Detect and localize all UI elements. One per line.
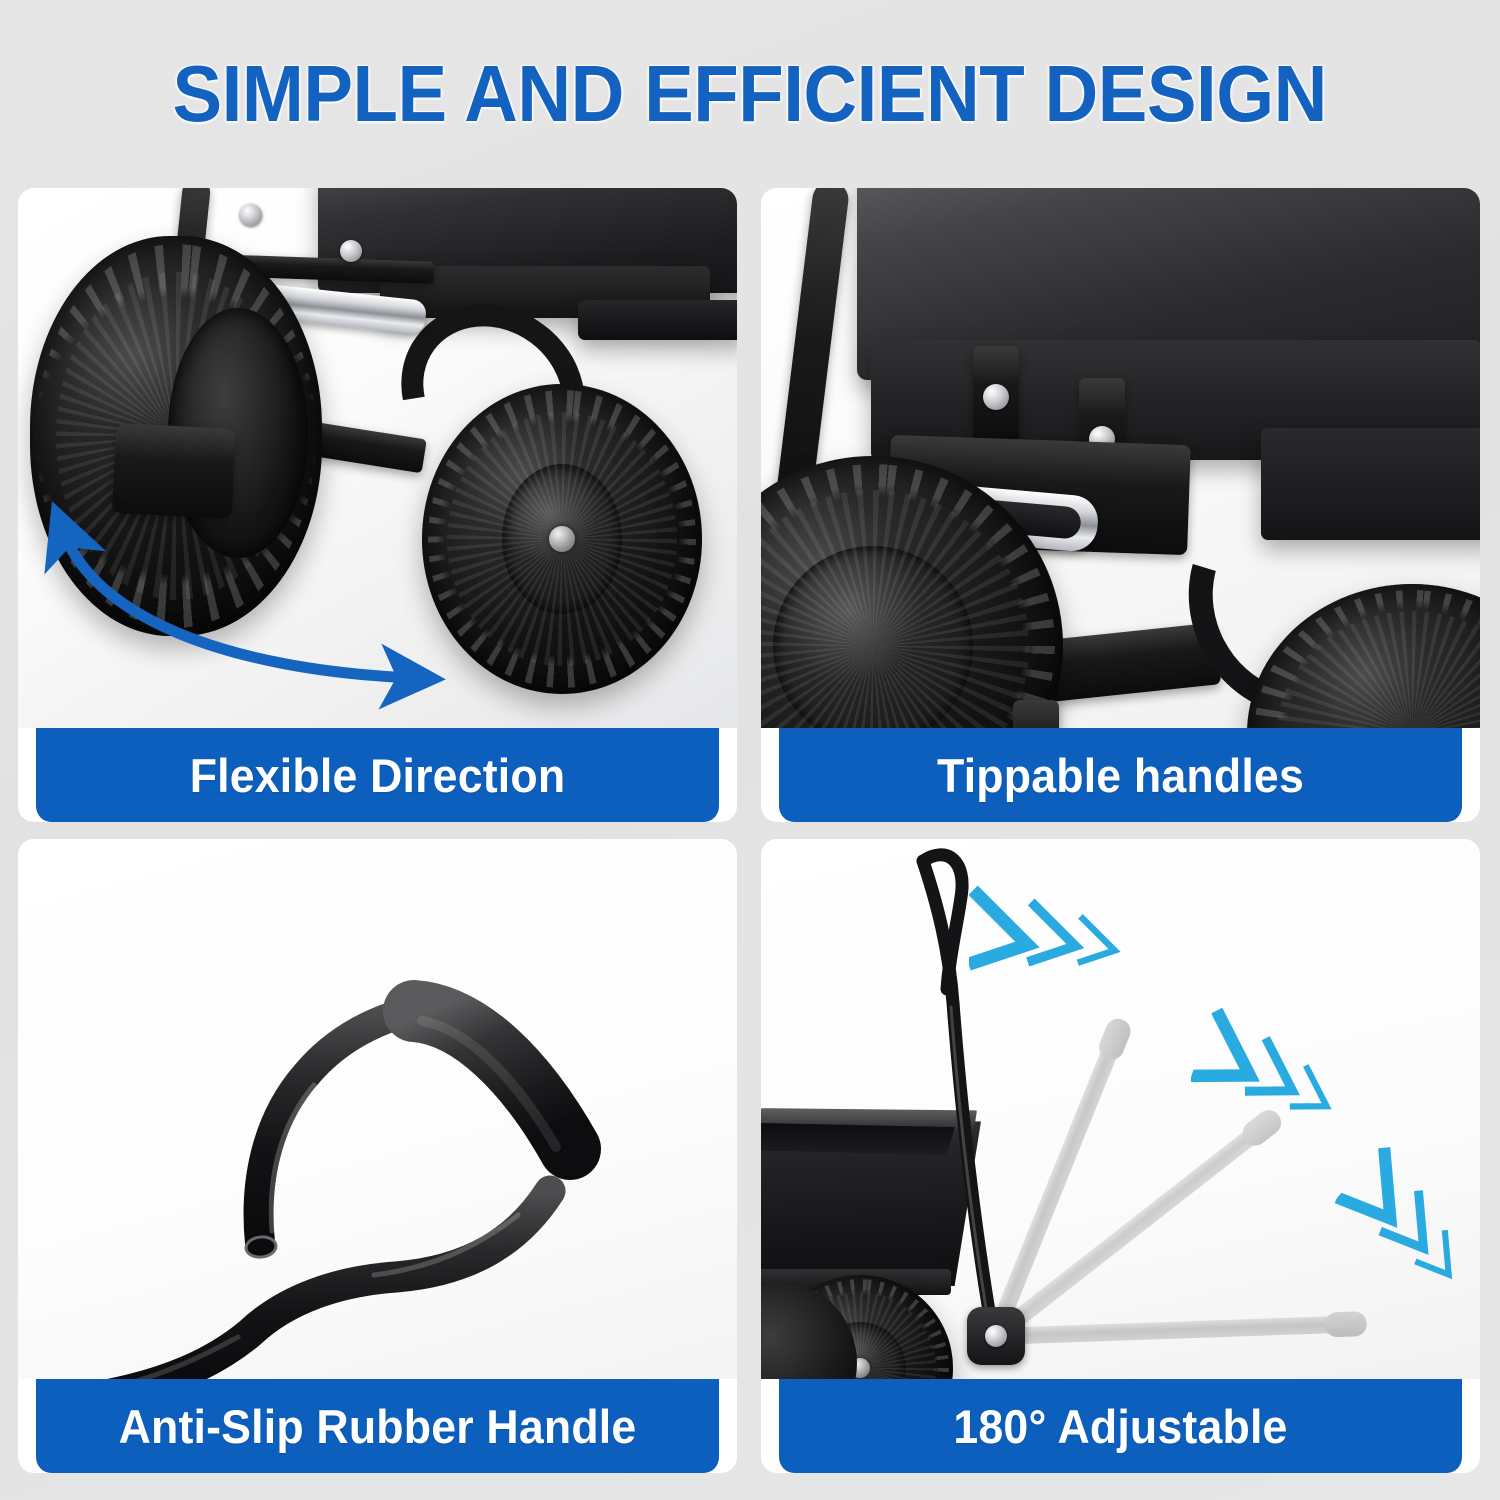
motion-chevron-group-top <box>969 871 1159 989</box>
panel-label-anti-slip-handle: Anti-Slip Rubber Handle <box>36 1379 719 1473</box>
feature-panel-flexible-direction: Flexible Direction <box>18 188 737 822</box>
panel-label-180-adjustable: 180° Adjustable <box>779 1379 1462 1473</box>
wheel-stub-bracket <box>1013 700 1059 728</box>
photo-180-adjustable <box>761 839 1480 1379</box>
handle-illustration <box>18 839 737 1379</box>
panel-label-flexible-direction: Flexible Direction <box>36 728 719 822</box>
photo-flexible-direction <box>18 188 737 728</box>
handle-shaft <box>106 1191 550 1379</box>
wheel-hub <box>773 546 973 728</box>
feature-panel-anti-slip-handle: Anti-Slip Rubber Handle <box>18 839 737 1473</box>
feature-panel-grid: Flexible Direction <box>18 188 1480 1473</box>
marketing-infographic: SIMPLE AND EFFICIENT DESIGN <box>0 0 1500 1500</box>
feature-panel-180-adjustable: 180° Adjustable <box>761 839 1480 1473</box>
photo-anti-slip-handle <box>18 839 737 1379</box>
handle-loop-left <box>259 1009 422 1243</box>
feature-panel-tippable-handles: Tippable handles <box>761 188 1480 822</box>
swivel-direction-arrow-icon <box>18 188 737 728</box>
page-title: SIMPLE AND EFFICIENT DESIGN <box>173 52 1327 136</box>
pivot-bolt-icon <box>985 1325 1007 1347</box>
panel-label-tippable-handles: Tippable handles <box>779 728 1462 822</box>
photo-tippable-handles <box>761 188 1480 728</box>
bolt-icon <box>983 384 1009 410</box>
page-title-container: SIMPLE AND EFFICIENT DESIGN <box>0 52 1500 136</box>
